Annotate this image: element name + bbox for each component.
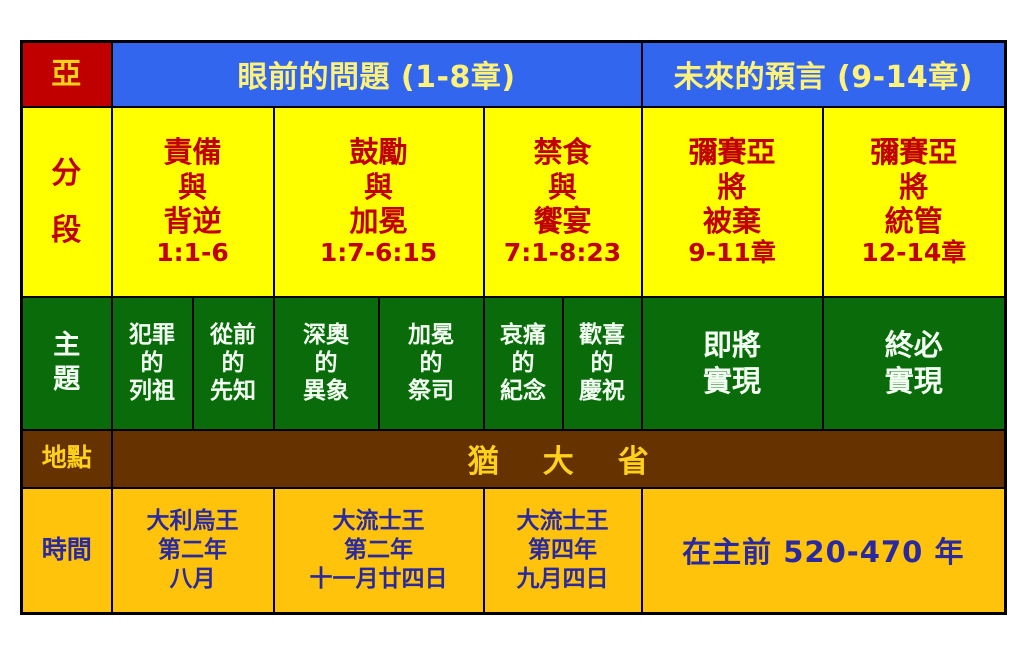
segment-cell-5-line-1: 彌賽亞 — [824, 135, 1005, 169]
theme-cell-7: 即將 實現 — [642, 297, 823, 430]
time-cell-3-line-1: 大流士王 — [485, 507, 641, 536]
time-cell-1-line-2: 第二年 — [113, 536, 273, 565]
segment-cell-4-line-2: 將 — [643, 170, 822, 204]
theme-cell-6-line-1: 歡喜 — [564, 321, 641, 349]
segment-cell-1-line-1: 責備 — [113, 135, 273, 169]
segment-cell-4: 彌賽亞 將 被棄 9-11章 — [642, 107, 823, 297]
theme-cell-3-line-2: 的 — [275, 349, 378, 377]
theme-cell-2-line-3: 先知 — [194, 377, 273, 405]
theme-row: 主 題 犯罪 的 列祖 從前 的 先知 深奧 的 異象 加冕 的 祭司 — [22, 297, 1006, 430]
row-stub-segment: 分 段 — [22, 107, 112, 297]
theme-cell-1-line-3: 列祖 — [113, 377, 192, 405]
banner-row: 亞 眼前的問題 (1-8章) 未來的預言 (9-14章) — [22, 42, 1006, 107]
segment-cell-2-line-2: 與 — [275, 170, 483, 204]
theme-cell-1: 犯罪 的 列祖 — [112, 297, 193, 430]
segment-cell-4-line-3: 被棄 — [643, 204, 822, 238]
row-stub-theme-line-2: 題 — [23, 363, 111, 397]
time-cell-2-line-1: 大流士王 — [275, 507, 483, 536]
segment-cell-4-line-1: 彌賽亞 — [643, 135, 822, 169]
theme-cell-4-line-3: 祭司 — [380, 377, 483, 405]
theme-cell-1-line-2: 的 — [113, 349, 192, 377]
segment-cell-3: 禁食 與 饗宴 7:1-8:23 — [484, 107, 642, 297]
segment-cell-3-line-1: 禁食 — [485, 135, 641, 169]
theme-cell-5-line-1: 哀痛 — [485, 321, 562, 349]
theme-cell-2-line-1: 從前 — [194, 321, 273, 349]
time-cell-2-line-3: 十一月廿四日 — [275, 565, 483, 594]
theme-cell-4-line-2: 的 — [380, 349, 483, 377]
time-cell-2: 大流士王 第二年 十一月廿四日 — [274, 488, 484, 614]
theme-cell-1-line-1: 犯罪 — [113, 321, 192, 349]
time-cell-1-line-1: 大利烏王 — [113, 507, 273, 536]
theme-cell-4: 加冕 的 祭司 — [379, 297, 484, 430]
segment-cell-1-reference: 1:1-6 — [113, 238, 273, 268]
segment-cell-2-line-1: 鼓勵 — [275, 135, 483, 169]
book-stub: 亞 — [22, 42, 112, 107]
time-cell-2-line-2: 第二年 — [275, 536, 483, 565]
zechariah-outline-chart: 亞 眼前的問題 (1-8章) 未來的預言 (9-14章) 分 段 責備 與 背逆… — [20, 40, 1004, 612]
segment-cell-4-reference: 9-11章 — [643, 238, 822, 268]
time-cell-3: 大流士王 第四年 九月四日 — [484, 488, 642, 614]
segment-cell-1-line-2: 與 — [113, 170, 273, 204]
banner-future-prophecy: 未來的預言 (9-14章) — [642, 42, 1006, 107]
outline-table: 亞 眼前的問題 (1-8章) 未來的預言 (9-14章) 分 段 責備 與 背逆… — [20, 40, 1007, 615]
segment-cell-5-line-2: 將 — [824, 170, 1005, 204]
time-cell-3-line-2: 第四年 — [485, 536, 641, 565]
row-stub-time: 時間 — [22, 488, 112, 614]
segment-cell-2-line-3: 加冕 — [275, 204, 483, 238]
time-row: 時間 大利烏王 第二年 八月 大流士王 第二年 十一月廿四日 大流士王 第四年 … — [22, 488, 1006, 614]
row-stub-place: 地點 — [22, 430, 112, 488]
row-stub-theme-line-1: 主 — [23, 329, 111, 363]
theme-cell-8-line-1: 終必 — [824, 327, 1005, 363]
theme-cell-5-line-2: 的 — [485, 349, 562, 377]
segment-cell-1: 責備 與 背逆 1:1-6 — [112, 107, 274, 297]
time-cell-1-line-3: 八月 — [113, 565, 273, 594]
theme-cell-3-line-3: 異象 — [275, 377, 378, 405]
banner-present-problems: 眼前的問題 (1-8章) — [112, 42, 642, 107]
segment-cell-5-reference: 12-14章 — [824, 238, 1005, 268]
segment-row: 分 段 責備 與 背逆 1:1-6 鼓勵 與 加冕 1:7-6:15 禁食 與 … — [22, 107, 1006, 297]
row-stub-segment-line-1: 分 — [23, 145, 111, 202]
place-value: 猶大省 — [112, 430, 1006, 488]
theme-cell-6: 歡喜 的 慶祝 — [563, 297, 642, 430]
theme-cell-6-line-2: 的 — [564, 349, 641, 377]
time-cell-4: 在主前 520-470 年 — [642, 488, 1006, 614]
segment-cell-2: 鼓勵 與 加冕 1:7-6:15 — [274, 107, 484, 297]
row-stub-segment-line-2: 段 — [23, 202, 111, 259]
theme-cell-6-line-3: 慶祝 — [564, 377, 641, 405]
theme-cell-7-line-1: 即將 — [643, 327, 822, 363]
theme-cell-5: 哀痛 的 紀念 — [484, 297, 563, 430]
segment-cell-5: 彌賽亞 將 統管 12-14章 — [823, 107, 1006, 297]
theme-cell-8-line-2: 實現 — [824, 363, 1005, 399]
theme-cell-3: 深奧 的 異象 — [274, 297, 379, 430]
theme-cell-7-line-2: 實現 — [643, 363, 822, 399]
theme-cell-4-line-1: 加冕 — [380, 321, 483, 349]
theme-cell-2: 從前 的 先知 — [193, 297, 274, 430]
segment-cell-3-line-3: 饗宴 — [485, 204, 641, 238]
time-cell-1: 大利烏王 第二年 八月 — [112, 488, 274, 614]
segment-cell-3-line-2: 與 — [485, 170, 641, 204]
theme-cell-3-line-1: 深奧 — [275, 321, 378, 349]
theme-cell-2-line-2: 的 — [194, 349, 273, 377]
segment-cell-3-reference: 7:1-8:23 — [485, 238, 641, 268]
segment-cell-1-line-3: 背逆 — [113, 204, 273, 238]
time-cell-3-line-3: 九月四日 — [485, 565, 641, 594]
row-stub-theme: 主 題 — [22, 297, 112, 430]
segment-cell-5-line-3: 統管 — [824, 204, 1005, 238]
theme-cell-8: 終必 實現 — [823, 297, 1006, 430]
segment-cell-2-reference: 1:7-6:15 — [275, 238, 483, 268]
place-row: 地點 猶大省 — [22, 430, 1006, 488]
theme-cell-5-line-3: 紀念 — [485, 377, 562, 405]
